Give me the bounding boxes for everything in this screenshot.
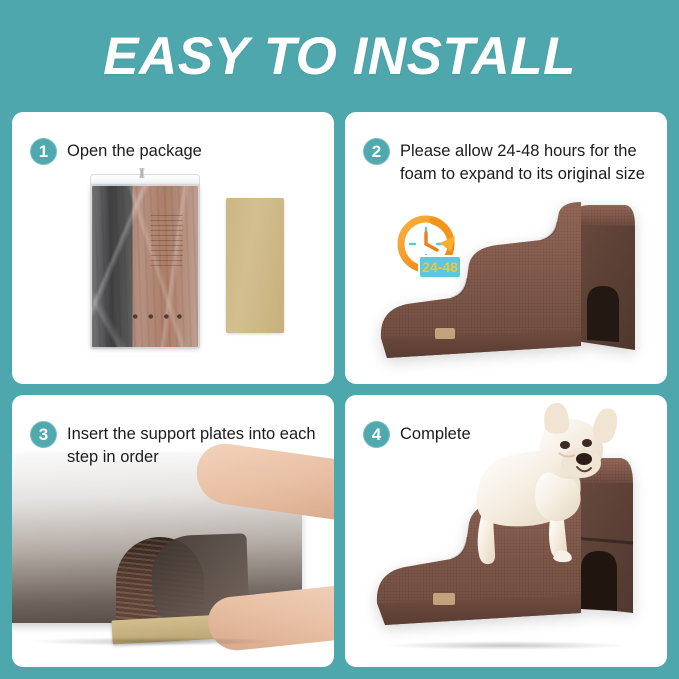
vacuum-sealed-bag-icon <box>90 184 200 349</box>
step-label-1: Open the package <box>67 138 202 163</box>
support-plate-icon <box>226 198 284 333</box>
step-label-4: Complete <box>400 421 471 446</box>
clock-24-48-icon: 24-48 <box>393 212 465 286</box>
ground-shadow <box>383 641 628 650</box>
clock-badge-label: 24-48 <box>422 259 458 275</box>
step-number-badge-4: 4 <box>363 421 390 448</box>
header: EASY TO INSTALL <box>0 0 679 108</box>
step-label-2: Please allow 24-48 hours for the foam to… <box>400 138 650 186</box>
package-print-symbols-icon <box>130 312 182 321</box>
step-card-1: 1 Open the package <box>12 112 334 384</box>
step-card-3: 3 Insert the support plates into each st… <box>12 395 334 667</box>
step-card-2: 24-48 2 Please allow 24-48 hours for the… <box>345 112 667 384</box>
page-title: EASY TO INSTALL <box>103 30 576 83</box>
step-3-header: 3 Insert the support plates into each st… <box>12 395 334 469</box>
step-4-header: 4 Complete <box>345 395 667 448</box>
step-1-header: 1 Open the package <box>12 112 334 165</box>
step-number-badge-1: 1 <box>30 138 57 165</box>
step-card-4: 4 Complete <box>345 395 667 667</box>
step-2-header: 2 Please allow 24-48 hours for the foam … <box>345 112 667 186</box>
step-number-badge-2: 2 <box>363 138 390 165</box>
step-label-3: Insert the support plates into each step… <box>67 421 317 469</box>
steps-grid: 1 Open the package <box>12 112 667 667</box>
step-number-badge-3: 3 <box>30 421 57 448</box>
ground-shadow <box>28 637 278 646</box>
